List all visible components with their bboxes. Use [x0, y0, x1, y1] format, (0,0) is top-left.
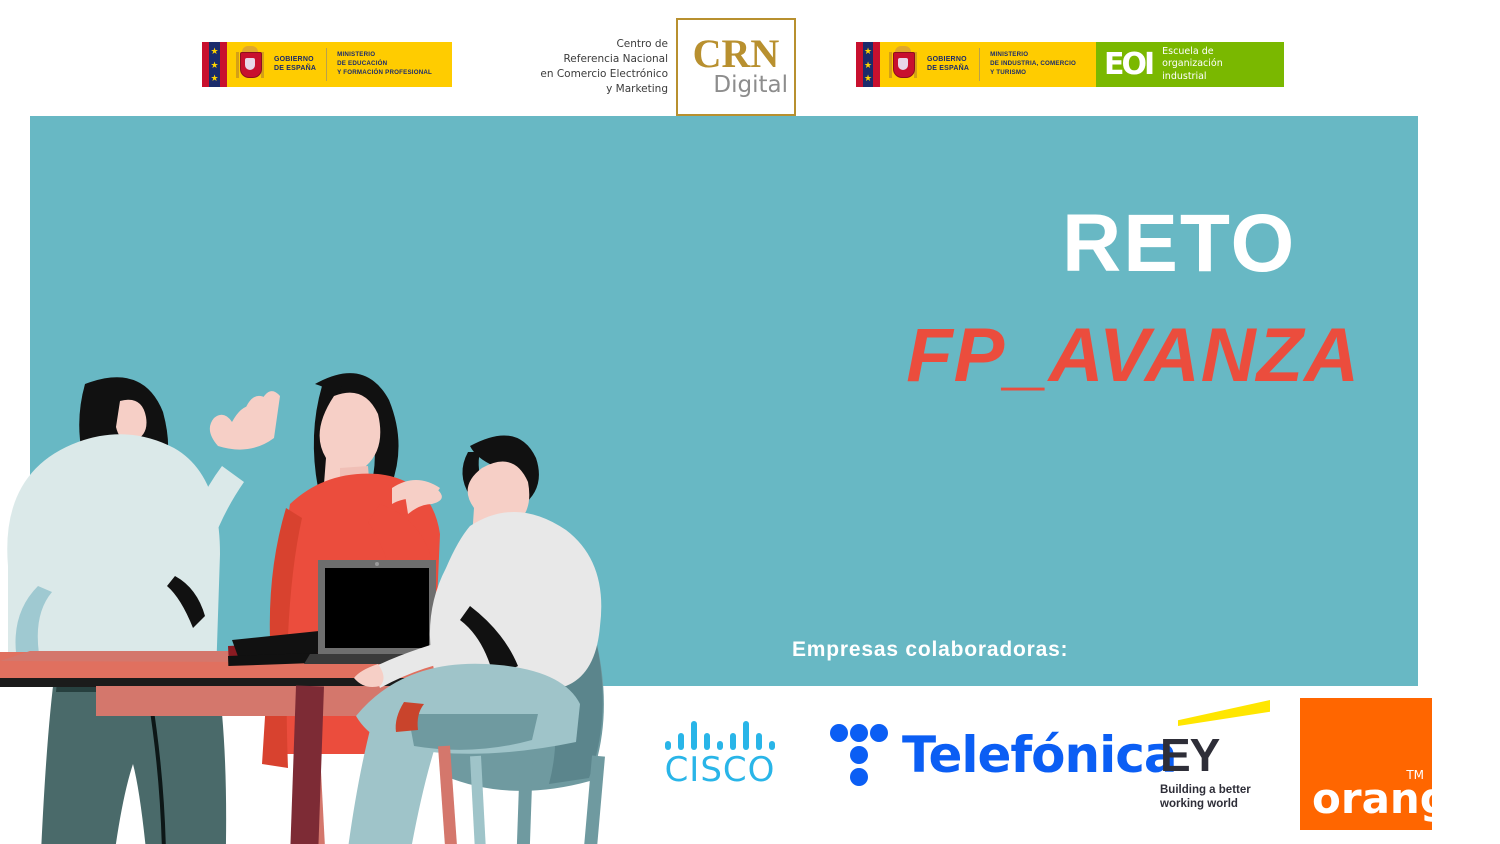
logo-divider [326, 48, 327, 81]
ey-beam-icon [1178, 700, 1270, 726]
logo-cisco: CISCO [640, 720, 800, 789]
star-icon: ★ [864, 74, 872, 82]
logo-eoi: EOI Escuela de organización industrial [1096, 42, 1284, 87]
coat-of-arms-icon [888, 46, 918, 84]
orange-wordmark: orange [1312, 778, 1478, 820]
eoi-mark: EOI [1104, 50, 1152, 80]
ministerio-industria-label: MINISTERIO DE INDUSTRIA, COMERCIO Y TURI… [990, 51, 1076, 78]
spanish-flag-icon: ★ ★ ★ [856, 42, 880, 87]
illustration-team-working [0, 116, 680, 844]
cisco-bars-icon [640, 720, 800, 750]
cisco-wordmark: CISCO [640, 752, 800, 789]
logo-strip: ★ ★ ★ GOBIERNO DE ESPAÑA MINISTERIO DE E… [0, 0, 1500, 116]
logo-telefonica: Telefónica [830, 720, 1150, 790]
star-icon: ★ [210, 61, 218, 69]
logo-ministerio-educacion: ★ ★ ★ GOBIERNO DE ESPAÑA MINISTERIO DE E… [202, 42, 452, 87]
page-subtitle: FP_AVANZA [740, 318, 1360, 394]
logo-ey: EY Building a better working world [1160, 700, 1290, 811]
crn-acronym: CRN [693, 35, 780, 73]
ey-tagline: Building a better working world [1160, 783, 1290, 811]
crn-box: CRN Digital [676, 18, 796, 116]
star-icon: ★ [864, 61, 872, 69]
slide-canvas: ★ ★ ★ GOBIERNO DE ESPAÑA MINISTERIO DE E… [0, 0, 1500, 844]
star-icon: ★ [210, 47, 218, 55]
logo-divider [979, 48, 980, 81]
gobierno-label: GOBIERNO DE ESPAÑA [927, 56, 969, 74]
crn-description: Centro de Referencia Nacional en Comerci… [540, 37, 676, 97]
gobierno-label: GOBIERNO DE ESPAÑA [274, 56, 316, 74]
logo-ministerio-industria: ★ ★ ★ GOBIERNO DE ESPAÑA MINISTERIO DE I… [856, 42, 1096, 87]
partner-logos: CISCO Telefónica EY Building a better wo… [620, 690, 1480, 844]
crn-digital-label: Digital [713, 73, 794, 98]
logo-crn-digital: Centro de Referencia Nacional en Comerci… [540, 18, 796, 116]
collaborators-label: Empresas colaboradoras: [792, 638, 1068, 662]
ministerio-educacion-label: MINISTERIO DE EDUCACIÓN Y FORMACIÓN PROF… [337, 51, 432, 78]
telefonica-dots-icon [830, 720, 888, 790]
spanish-flag-icon: ★ ★ ★ [202, 42, 227, 87]
ey-wordmark: EY [1160, 732, 1290, 778]
page-title: RETO [1062, 203, 1296, 285]
telefonica-wordmark: Telefónica [902, 730, 1177, 780]
eoi-name-label: Escuela de organización industrial [1162, 46, 1223, 82]
star-icon: ★ [864, 47, 872, 55]
logo-orange: TM orange [1300, 698, 1432, 830]
star-icon: ★ [210, 74, 218, 82]
coat-of-arms-icon [235, 46, 265, 84]
